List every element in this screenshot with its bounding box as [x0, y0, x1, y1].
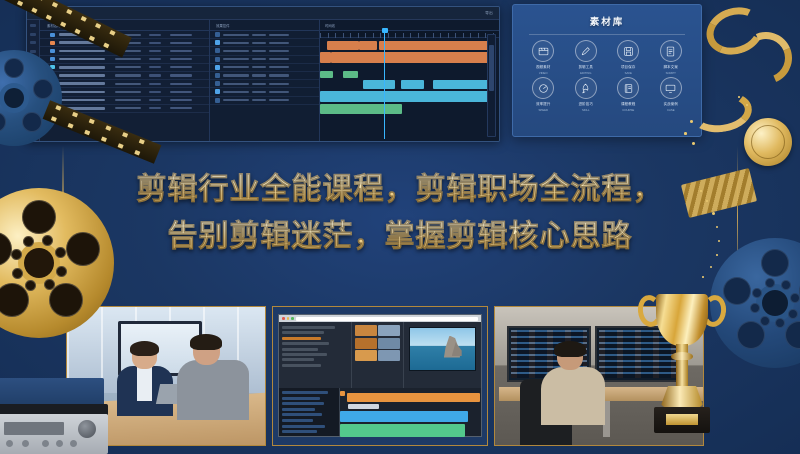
media-list-item[interactable]: [40, 80, 209, 88]
library-tile[interactable]: 进阶技巧SKILL: [565, 77, 608, 112]
tile-sublabel: SCRIPT: [666, 71, 676, 75]
rocket-icon: [575, 77, 597, 99]
tile-sublabel: SPEED: [539, 108, 548, 112]
effects-title: 效果控件: [216, 23, 230, 28]
reel-hole: [781, 280, 791, 290]
reel-hole: [23, 236, 34, 247]
clip-color-swatch: [50, 41, 55, 45]
library-tile[interactable]: 实战案例CASE: [650, 77, 693, 112]
vintage-radio-receiver: [0, 378, 112, 454]
timeline-clip[interactable]: [433, 80, 490, 89]
tile-label: 项目保存: [621, 64, 635, 69]
effect-list-item[interactable]: [210, 88, 319, 96]
export-button[interactable]: 导出: [485, 11, 493, 16]
sparkle-dot: [738, 96, 740, 98]
speed-gauge-icon: [532, 77, 554, 99]
reel-hole: [22, 112, 42, 132]
timeline-clip[interactable]: [320, 91, 490, 102]
tile-sublabel: SKILL: [582, 108, 590, 112]
timeline-playhead[interactable]: [384, 31, 385, 139]
preview-monitor: [404, 322, 481, 388]
photo-editing-software: [272, 306, 488, 446]
timeline-clip[interactable]: [359, 41, 377, 50]
headline-line-2: 告别剪辑迷茫，掌握剪辑核心思路: [0, 213, 800, 260]
book-icon: [617, 77, 639, 99]
reel-hole: [0, 112, 6, 132]
gold-trophy: [622, 278, 742, 454]
effect-icon: [215, 48, 220, 53]
timeline-panel[interactable]: 时间线: [320, 20, 499, 142]
clip-name: [59, 66, 105, 69]
material-library-panel: 素材库 视频素材VIDEO剪辑工具EDITING项目保存SAVE脚本文案SCRI…: [512, 4, 702, 137]
tile-sublabel: COURSE: [622, 108, 634, 112]
effect-list-item[interactable]: [210, 31, 319, 39]
effect-list-item[interactable]: [210, 47, 319, 55]
promo-banner: 文件 编辑 素材 导出 素材名称 时长 效果控件: [0, 0, 800, 454]
reel-hole: [775, 318, 785, 328]
effect-icon: [215, 73, 220, 78]
tile-label: 进阶技巧: [579, 101, 593, 106]
tile-label: 脚本文案: [664, 64, 678, 69]
media-list-item[interactable]: [40, 97, 209, 105]
document-icon: [660, 40, 682, 62]
reel-hole: [4, 58, 24, 78]
library-tile[interactable]: 视频素材VIDEO: [522, 40, 565, 75]
effect-icon: [215, 65, 220, 70]
clip-color-swatch: [50, 49, 55, 53]
headline-line-1: 剪辑行业全能课程，剪辑职场全流程，: [0, 166, 800, 213]
clip-name: [59, 58, 105, 61]
timeline-clip[interactable]: [343, 71, 357, 78]
tile-label: 效率提升: [536, 101, 550, 106]
reel-hole: [55, 247, 66, 258]
reel-hole: [790, 293, 800, 303]
gold-medal: [744, 118, 792, 166]
clip-name: [59, 91, 105, 94]
timeline-clip[interactable]: [327, 41, 359, 50]
media-list-item[interactable]: [40, 88, 209, 96]
media-thumbnails[interactable]: [352, 322, 405, 388]
reel-hole: [44, 279, 55, 290]
person-candidate: [177, 335, 249, 419]
person-editor: [541, 343, 605, 423]
sparkle-dot: [716, 254, 718, 256]
clip-name: [59, 82, 105, 85]
library-tile[interactable]: 课程教程COURSE: [607, 77, 650, 112]
reel-hole: [11, 249, 22, 260]
sparkle-dot: [684, 132, 687, 135]
reel-hole: [22, 200, 56, 234]
effect-icon: [215, 81, 220, 86]
tile-sublabel: VIDEO: [539, 71, 548, 75]
timeline-clip[interactable]: [320, 71, 333, 78]
reel-hole: [56, 266, 67, 277]
media-list-item[interactable]: [40, 64, 209, 72]
tile-sublabel: CASE: [667, 108, 675, 112]
timeline-header: 时间线: [320, 20, 499, 31]
reel-hole: [33, 79, 53, 99]
window-titlebar: [279, 315, 481, 322]
timeline-clip[interactable]: [379, 41, 490, 50]
effect-list-item[interactable]: [210, 64, 319, 72]
media-list-item[interactable]: [40, 56, 209, 64]
trophy-plate: [666, 414, 698, 425]
tile-label: 实战案例: [664, 101, 678, 106]
reel-hole: [66, 232, 100, 266]
address-bar[interactable]: [296, 317, 479, 321]
clip-name: [59, 50, 105, 53]
timeline-ruler[interactable]: [320, 31, 499, 38]
reel-hole: [0, 283, 29, 317]
effect-icon: [215, 57, 220, 62]
headline-band: 剪辑行业全能课程，剪辑职场全流程， 告别剪辑迷茫，掌握剪辑核心思路: [0, 146, 800, 286]
reel-hole: [765, 278, 775, 288]
reel-hole: [12, 268, 23, 279]
library-tile[interactable]: 效率提升SPEED: [522, 77, 565, 112]
timeline-title: 时间线: [325, 23, 335, 28]
clip-name: [59, 74, 105, 77]
effect-icon: [215, 89, 220, 94]
effect-list-item[interactable]: [210, 39, 319, 47]
timeline-clip[interactable]: [363, 80, 395, 89]
sparkle-dot: [692, 142, 695, 145]
effect-icon: [215, 40, 220, 45]
timeline-clip[interactable]: [401, 80, 424, 89]
reel-hole: [0, 232, 12, 266]
film-clapper-icon: [532, 40, 554, 62]
reel-hole: [761, 249, 789, 277]
nle-titlebar: 文件 编辑 素材 导出: [27, 7, 499, 20]
timeline-clip[interactable]: [320, 52, 331, 63]
effects-header: 效果控件: [210, 20, 319, 31]
effects-panel[interactable]: 效果控件: [210, 20, 320, 142]
reel-hole: [49, 283, 83, 317]
library-tile[interactable]: 项目保存SAVE: [607, 40, 650, 75]
effect-list-item[interactable]: [210, 80, 319, 88]
clip-color-swatch: [50, 33, 55, 37]
editor-window: [278, 314, 482, 437]
pen-edit-icon: [575, 40, 597, 62]
library-divider: [529, 34, 685, 35]
track-headers[interactable]: [279, 388, 340, 436]
reel-hole: [788, 309, 798, 319]
reel-hole: [25, 280, 36, 291]
editor-timeline[interactable]: [279, 388, 481, 436]
tile-label: 视频素材: [536, 64, 550, 69]
reel-hole: [750, 303, 760, 313]
tile-sublabel: SAVE: [625, 71, 632, 75]
reel-hole: [785, 321, 800, 349]
library-tile[interactable]: 剪辑工具EDITING: [565, 40, 608, 75]
effect-icon: [215, 32, 220, 37]
clip-color-swatch: [50, 57, 55, 61]
library-tile[interactable]: 脚本文案SCRIPT: [650, 40, 693, 75]
media-list-item[interactable]: [40, 72, 209, 80]
timeline-scrollbar[interactable]: [487, 34, 496, 137]
reel-hole: [760, 316, 770, 326]
library-title: 素材库: [513, 14, 701, 28]
reel-hole: [752, 288, 762, 298]
project-bin[interactable]: [279, 322, 352, 388]
trophy-cup: [656, 294, 708, 346]
effect-icon: [215, 98, 220, 103]
reel-hole: [42, 235, 53, 246]
save-disk-icon: [617, 40, 639, 62]
monitor-icon: [660, 77, 682, 99]
effect-list-item[interactable]: [210, 72, 319, 80]
tile-sublabel: EDITING: [580, 71, 591, 75]
timeline-clip[interactable]: [320, 104, 402, 114]
tile-label: 课程教程: [621, 101, 635, 106]
tile-label: 剪辑工具: [579, 64, 593, 69]
effect-list-item[interactable]: [210, 56, 319, 64]
clip-name: [59, 99, 105, 102]
effect-list-item[interactable]: [210, 97, 319, 105]
timeline-clip[interactable]: [331, 52, 490, 63]
headline: 剪辑行业全能课程，剪辑职场全流程， 告别剪辑迷茫，掌握剪辑核心思路: [0, 166, 800, 260]
